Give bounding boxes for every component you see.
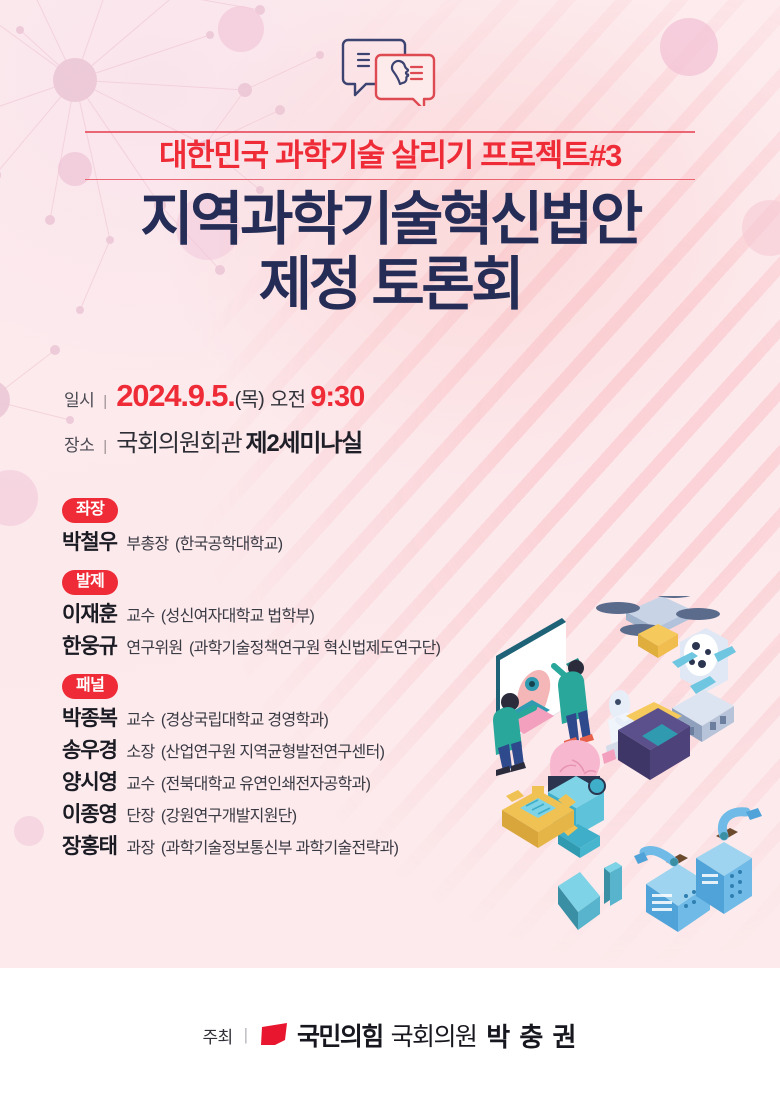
person-title: 소장 (126, 744, 154, 761)
person-title: 과장 (126, 840, 154, 857)
person-affiliation: (강원연구개발지원단) (161, 808, 296, 825)
member-role: 국회의원 (391, 1017, 477, 1053)
subtitle-rule-top (85, 131, 695, 133)
person-row: 박철우 부총장 (한국공학대학교) (62, 532, 440, 553)
person-affiliation: (경상국립대학교 경영학과) (161, 712, 328, 729)
person-title: 교수 (126, 608, 154, 625)
footer-separator: | (244, 1025, 248, 1045)
person-title: 교수 (126, 776, 154, 793)
member-name: 박 충 권 (486, 1017, 577, 1054)
small-robot-with-device (602, 690, 690, 780)
place-room: 제2세미나실 (245, 423, 362, 458)
host-label: 주최 (203, 1023, 233, 1048)
person-title: 교수 (126, 712, 154, 729)
speech-bubbles-profiles-icon (338, 34, 442, 106)
person-title: 단장 (126, 808, 154, 825)
person-name: 박종복 (62, 707, 117, 730)
role-people-list: 이재훈 교수 (성신여자대학교 법학부) 한웅규 연구위원 (과학기술정책연구원… (62, 604, 440, 657)
role-badge: 발제 (62, 570, 118, 595)
speaker-roster: 좌장 박철우 부총장 (한국공학대학교) 발제 이재훈 교수 (성신여자대학교 … (62, 498, 440, 857)
place-building: 국회의원회관 (116, 423, 241, 458)
person-affiliation: (전북대학교 유연인쇄전자공학과) (161, 776, 370, 793)
role-badge: 패널 (62, 674, 118, 699)
person-affiliation: (산업연구원 지역균형발전연구센터) (161, 744, 384, 761)
place-separator: | (103, 438, 107, 455)
party-name: 국민의힘 (297, 1017, 383, 1053)
ai-3d-letters (558, 862, 622, 930)
person-row: 이재훈 교수 (성신여자대학교 법학부) (62, 604, 440, 625)
isometric-science-technology-illustration (466, 596, 780, 932)
robotic-arms-factory (634, 808, 762, 932)
date-time: 9:30 (310, 381, 364, 414)
role-group-presenter: 발제 이재훈 교수 (성신여자대학교 법학부) 한웅규 연구위원 (과학기술정책… (62, 570, 440, 657)
person-name: 한웅규 (62, 635, 117, 658)
role-group-panel: 패널 박종복 교수 (경상국립대학교 경영학과) 송우경 소장 (산업연구원 지… (62, 674, 440, 857)
ai-brain-head (548, 740, 605, 858)
poster-footer: 주최 | 국민의힘 국회의원 박 충 권 (0, 968, 780, 1102)
role-people-list: 박철우 부총장 (한국공학대학교) (62, 532, 440, 553)
person-row: 이종영 단장 (강원연구개발지원단) (62, 804, 440, 825)
person-affiliation: (한국공학대학교) (175, 536, 282, 553)
event-date-row: 일시 | 2024.9.5. (목) 오전 9:30 (64, 378, 364, 414)
title-line-1: 지역과학기술혁신법안 (0, 188, 780, 253)
person-name: 박철우 (62, 531, 117, 554)
role-people-list: 박종복 교수 (경상국립대학교 경영학과) 송우경 소장 (산업연구원 지역균형… (62, 708, 440, 857)
person-title: 연구위원 (126, 640, 182, 657)
person-affiliation: (과학기술정보통신부 과학기술전략과) (161, 840, 398, 857)
subtitle-rule-bottom (85, 179, 695, 181)
date-weekday: (목) (235, 383, 264, 412)
date-separator: | (103, 393, 107, 410)
role-group-chair: 좌장 박철우 부총장 (한국공학대학교) (62, 498, 440, 553)
person-row: 송우경 소장 (산업연구원 지역균형발전연구센터) (62, 740, 440, 761)
researcher-standing (554, 658, 594, 747)
ppp-party-logo-icon (259, 1023, 289, 1047)
event-meta: 일시 | 2024.9.5. (목) 오전 9:30 장소 | 국회의원회관 제… (64, 378, 364, 458)
person-row: 장홍태 과장 (과학기술정보통신부 과학기술전략과) (62, 836, 440, 857)
person-row: 박종복 교수 (경상국립대학교 경영학과) (62, 708, 440, 729)
person-name: 이종영 (62, 803, 117, 826)
brand-logo (0, 34, 780, 106)
person-row: 양시영 교수 (전북대학교 유연인쇄전자공학과) (62, 772, 440, 793)
person-name: 장홍태 (62, 835, 117, 858)
role-badge: 좌장 (62, 498, 118, 523)
person-row: 한웅규 연구위원 (과학기술정책연구원 혁신법제도연구단) (62, 636, 440, 657)
person-name: 이재훈 (62, 603, 117, 626)
date-label: 일시 (64, 386, 94, 411)
title-line-2: 제정 토론회 (0, 253, 780, 318)
person-affiliation: (성신여자대학교 법학부) (161, 608, 314, 625)
date-value: 2024.9.5. (116, 378, 234, 414)
person-name: 송우경 (62, 739, 117, 762)
date-ampm: 오전 (270, 383, 305, 412)
place-label: 장소 (64, 431, 94, 456)
person-name: 양시영 (62, 771, 117, 794)
event-place-row: 장소 | 국회의원회관 제2세미나실 (64, 423, 364, 458)
event-poster: 대한민국 과학기술 살리기 프로젝트#3 지역과학기술혁신법안 제정 토론회 일… (0, 0, 780, 1102)
person-title: 부총장 (126, 536, 168, 553)
poster-subtitle: 대한민국 과학기술 살리기 프로젝트#3 (159, 133, 621, 179)
person-affiliation: (과학기술정책연구원 혁신법제도연구단) (189, 640, 440, 657)
poster-title: 지역과학기술혁신법안 제정 토론회 (0, 188, 780, 318)
subtitle-block: 대한민국 과학기술 살리기 프로젝트#3 (0, 131, 780, 180)
